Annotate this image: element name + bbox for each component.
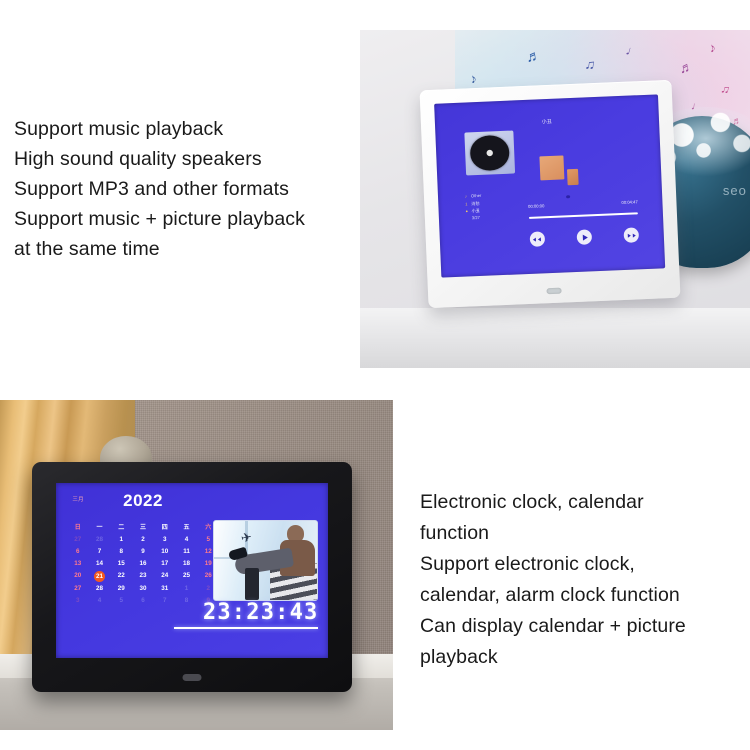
album-art [464,130,515,176]
previous-button[interactable] [529,232,545,248]
digital-photo-frame-white: 小丑 ♪ Other 1 消愁 [420,80,681,308]
calendar-day: 14 [89,559,111,569]
clock-feature-text: Electronic clock, calendar function Supp… [420,487,686,673]
calendar-day: 6 [132,596,154,606]
previous-icon [533,237,536,241]
feature-line: Can display calendar + picture [420,611,686,642]
calendar-day: 11 [176,547,198,557]
clock-product-photo: 三月 2022 日一二三四五六2728123456789101112131415… [0,400,393,730]
calendar-day: 9 [132,547,154,557]
music-note-icon: ♬ [678,59,695,76]
next-icon [632,233,635,237]
calendar-day-today: 21 [89,571,111,582]
calendar-day: 31 [154,584,176,594]
feature-line: High sound quality speakers [14,144,305,174]
playback-controls [529,228,639,248]
calendar-day: 17 [154,559,176,569]
list-item[interactable]: 3/27 [466,214,483,222]
calendar-day: 10 [154,547,176,557]
calendar-day: 6 [67,547,89,557]
progress-dot [566,195,570,198]
now-playing-title: 小丑 [435,114,659,130]
calendar-clock-screen: 三月 2022 日一二三四五六2728123456789101112131415… [56,483,328,658]
today-highlight: 21 [94,571,105,582]
calendar-grid: 日一二三四五六272812345678910111213141516171819… [67,522,219,606]
next-button[interactable] [624,228,640,244]
calendar-day: 27 [67,584,89,594]
feature-line: Electronic clock, calendar [420,487,686,518]
cover-shape-b [567,169,579,185]
playlist[interactable]: ♪ Other 1 消愁 ● 小丑 3/27 [465,192,483,221]
table-surface [360,308,750,368]
speaker-brand-label: seo [723,183,747,198]
music-note-icon: ♪ [468,71,478,85]
clock-underline [174,627,318,629]
calendar-day: 13 [67,559,89,569]
feature-line: Support electronic clock, [420,549,686,580]
music-product-photo: ♪♫♬♩♪♫♬♩♪♫♬♩♪♫♬♩♪♫ seo 小丑 ♪ [360,30,750,368]
music-note-icon: ♫ [719,82,731,96]
feature-line: calendar, alarm clock function [420,580,686,611]
calendar-day: 23 [132,571,154,582]
calendar-weekday: 三 [132,522,154,533]
music-feature-text: Support music playback High sound qualit… [14,114,305,264]
calendar-day: 5 [110,596,132,606]
music-note-icon: ♪ [707,41,717,55]
feature-line: Support music playback [14,114,305,144]
time-elapsed: 00:00:00 [528,204,545,210]
feature-line: Support music + picture playback [14,204,305,234]
next-icon [628,233,631,237]
calendar-day: 28 [89,535,111,545]
music-note-icon: ♬ [525,48,542,65]
play-button[interactable] [577,230,593,246]
music-note-icon: ♫ [584,56,597,71]
calendar-day: 25 [176,571,198,582]
product-feature-page: Support music playback High sound qualit… [0,0,750,750]
music-player-screen: 小丑 ♪ Other 1 消愁 [434,94,665,277]
calendar-weekday: 二 [110,522,132,533]
calendar-day: 29 [110,584,132,594]
calendar-weekday: 五 [176,522,198,533]
ir-sensor [183,674,202,681]
feature-line: at the same time [14,234,305,264]
calendar-day: 20 [67,571,89,582]
calendar-day: 7 [154,596,176,606]
calendar-day: 24 [154,571,176,582]
calendar-weekday: 一 [89,522,111,533]
calendar-day: 4 [176,535,198,545]
play-icon [582,234,587,240]
playlist-label: 3/27 [472,214,480,222]
calendar-day: 28 [89,584,111,594]
calendar-day: 27 [67,535,89,545]
feature-line: Support MP3 and other formats [14,174,305,204]
calendar-day: 2 [132,535,154,545]
digital-clock: 23:23:43 [174,602,318,629]
clock-time: 23:23:43 [174,602,318,624]
calendar-day: 3 [67,596,89,606]
ir-sensor [546,288,561,295]
calendar-day: 8 [110,547,132,557]
calendar-day: 22 [110,571,132,582]
calendar-year: 2022 [56,491,328,511]
progress-bar[interactable] [529,213,639,220]
calendar-day: 7 [89,547,111,557]
calendar-weekday: 四 [154,522,176,533]
calendar-day: 18 [176,559,198,569]
feature-line: function [420,518,686,549]
calendar-day: 1 [110,535,132,545]
time-total: 00:04:47 [621,200,638,206]
calendar-day: 3 [154,535,176,545]
music-note-icon: ♩ [625,44,641,60]
calendar-day: 1 [176,584,198,594]
feature-line: playback [420,642,686,673]
calendar-day: 30 [132,584,154,594]
calendar-weekday: 日 [67,522,89,533]
photo-suitcase [245,568,258,600]
calendar-day: 16 [132,559,154,569]
vinyl-record-icon [470,135,511,171]
cover-graphic [539,152,578,187]
calendar-day: 4 [89,596,111,606]
previous-icon [538,237,541,241]
playlist-marker: ● [465,207,469,214]
digital-photo-frame-black: 三月 2022 日一二三四五六2728123456789101112131415… [32,462,352,692]
photo-thumbnail: ✈ [213,520,318,601]
cover-shape-a [539,156,564,181]
calendar-day: 15 [110,559,132,569]
